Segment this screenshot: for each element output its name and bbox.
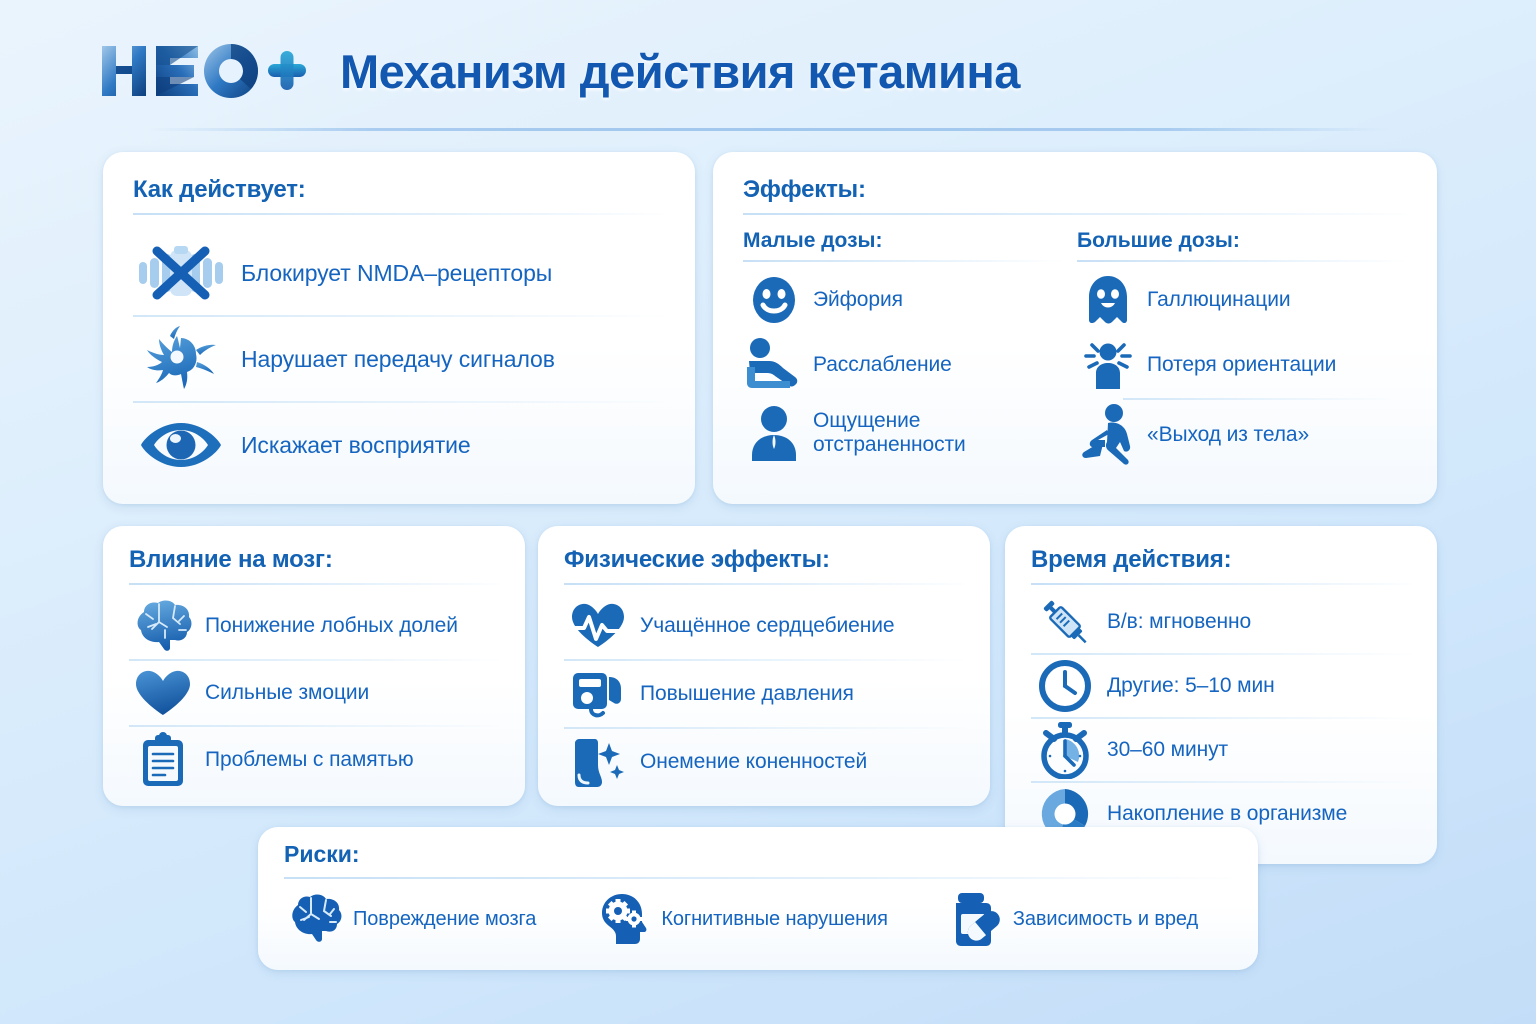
card-title-how: Как действует: xyxy=(133,176,665,204)
list-item-label: Зависимость и вред xyxy=(1013,908,1198,931)
reclining-person-icon xyxy=(743,337,805,393)
card-title-effects: Эффекты: xyxy=(743,176,1407,204)
list-item-label: Проблемы с памятью xyxy=(205,748,414,772)
divider xyxy=(564,583,964,585)
page-title: Механизм действия кетамина xyxy=(340,44,1020,99)
list-item-label: Потеря ориентации xyxy=(1147,353,1336,377)
card-duration: Время действия: xyxy=(1005,526,1437,864)
effects-column-high-dose: Большие дозы: Галлюцинации xyxy=(1077,229,1407,470)
card-title-physical: Физические эффекты: xyxy=(564,546,964,574)
heart-icon xyxy=(129,668,197,718)
syringe-icon xyxy=(1031,593,1099,651)
list-item-label: Другие: 5–10 мин xyxy=(1107,674,1275,698)
divider xyxy=(133,213,665,215)
list-item[interactable]: Учащённое сердцебиение xyxy=(564,593,964,659)
list-item[interactable]: Проблемы с памятью xyxy=(129,727,499,793)
list-item[interactable]: Потеря ориентации xyxy=(1077,332,1407,398)
card-effects: Эффекты: Малые дозы: Эйфория xyxy=(713,152,1437,504)
list-item[interactable]: Сильные змоции xyxy=(129,661,499,725)
list-item[interactable]: Другие: 5–10 мин xyxy=(1031,655,1411,717)
list-item-label: Искажает восприятие xyxy=(241,432,471,458)
page-header: Механизм действия кетамина xyxy=(0,0,1536,140)
list-item-label: Нарушает передачу сигналов xyxy=(241,346,555,372)
list-item-label: Расслабление xyxy=(813,353,952,377)
list-item[interactable]: Повреждение мозга xyxy=(284,894,536,944)
clipboard-icon xyxy=(129,732,197,788)
stopwatch-icon xyxy=(1031,721,1099,779)
eye-icon xyxy=(133,412,229,478)
list-item[interactable]: Когнитивные нарушения xyxy=(592,892,888,946)
list-item[interactable]: Галлюцинации xyxy=(1077,268,1407,332)
list-item-label: Понижение лобных долей xyxy=(205,614,458,638)
divider xyxy=(743,213,1407,215)
divider xyxy=(129,583,499,585)
floating-person-icon xyxy=(1077,404,1139,466)
list-item[interactable]: Онемение коненностей xyxy=(564,729,964,795)
card-brain-impact: Влияние на мозг: xyxy=(103,526,525,806)
divider xyxy=(1031,583,1411,585)
list-item[interactable]: Блокирует NMDA–рецепторы xyxy=(133,231,665,315)
blood-pressure-monitor-icon xyxy=(564,667,632,721)
list-item-label: 30–60 минут xyxy=(1107,738,1228,762)
list-item[interactable]: Эйфория xyxy=(743,268,1063,332)
brain-icon xyxy=(129,600,197,652)
list-item[interactable]: Зависимость и вред xyxy=(944,891,1198,947)
list-item-label: Повреждение мозга xyxy=(353,908,536,931)
divider xyxy=(743,260,1063,262)
divider xyxy=(1077,260,1407,262)
list-item-label: Учащённое сердцебиение xyxy=(640,614,894,638)
disoriented-person-icon xyxy=(1077,337,1139,393)
effects-column-low-dose: Малые дозы: Эйфория xyxy=(743,229,1063,470)
list-item[interactable]: Нарушает передачу сигналов xyxy=(133,317,665,401)
list-item-label: Эйфория xyxy=(813,288,903,312)
card-how-it-works: Как действует: xyxy=(103,152,695,504)
list-item[interactable]: Понижение лобных долей xyxy=(129,593,499,659)
neuron-icon xyxy=(133,326,229,392)
list-item-label: Накопление в организме xyxy=(1107,802,1347,826)
clock-icon xyxy=(1031,659,1099,713)
numb-foot-icon xyxy=(564,735,632,789)
card-title-brain: Влияние на мозг: xyxy=(129,546,499,574)
column-title: Малые дозы: xyxy=(743,229,1063,253)
list-item-label: Ощущение отстраненности xyxy=(813,409,966,457)
list-item-label: Галлюцинации xyxy=(1147,288,1290,312)
list-item-label: Когнитивные нарушения xyxy=(661,908,888,931)
ghost-icon xyxy=(1077,274,1139,326)
nmda-receptor-blocked-icon xyxy=(133,240,229,306)
list-item-label: Повышение давления xyxy=(640,682,854,706)
list-item-label: Онемение коненностей xyxy=(640,750,867,774)
list-item-label: «Выход из тела» xyxy=(1147,423,1309,447)
heartbeat-icon xyxy=(564,601,632,651)
divider xyxy=(284,877,1232,879)
smiley-face-icon xyxy=(743,275,805,325)
pill-bottle-icon xyxy=(944,891,1006,947)
card-risks: Риски: Повреждение мозга xyxy=(258,827,1258,970)
card-title-risks: Риски: xyxy=(284,841,1232,868)
list-item-label: В/в: мгновенно xyxy=(1107,610,1251,634)
list-item[interactable]: Расслабление xyxy=(743,332,1063,398)
column-title: Большие дозы: xyxy=(1077,229,1407,253)
header-divider xyxy=(150,128,1390,131)
list-item[interactable]: «Выход из тела» xyxy=(1077,400,1407,470)
neo-plus-logo xyxy=(98,40,308,102)
list-item[interactable]: Повышение давления xyxy=(564,661,964,727)
person-silhouette-icon xyxy=(743,405,805,461)
list-item[interactable]: Искажает восприятие xyxy=(133,403,665,487)
card-title-time: Время действия: xyxy=(1031,546,1411,574)
list-item[interactable]: В/в: мгновенно xyxy=(1031,591,1411,653)
list-item[interactable]: 30–60 минут xyxy=(1031,719,1411,781)
card-physical-effects: Физические эффекты: Учащённое сердцебиен… xyxy=(538,526,990,806)
list-item-label: Блокирует NMDA–рецепторы xyxy=(241,260,552,286)
damaged-brain-icon xyxy=(284,894,346,944)
list-item-label: Сильные змоции xyxy=(205,681,369,705)
head-gears-icon xyxy=(592,892,654,946)
list-item[interactable]: Ощущение отстраненности xyxy=(743,398,1063,468)
